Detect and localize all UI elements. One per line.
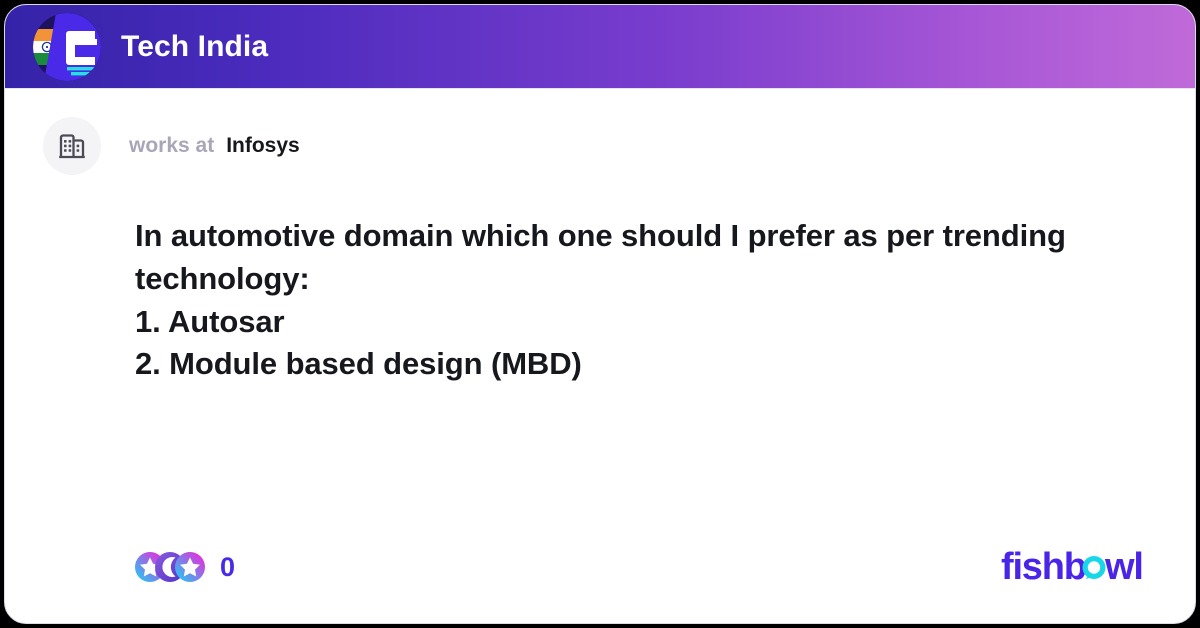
- reactions-group[interactable]: 0: [135, 552, 235, 582]
- author-row: works at Infosys: [43, 117, 1155, 175]
- post-card: Tech India: [4, 4, 1196, 624]
- post-footer: 0 fishb wl: [43, 541, 1155, 593]
- works-at-label: works at: [129, 134, 214, 158]
- tech-india-bowl-avatar[interactable]: [33, 13, 101, 81]
- bowl-title: Tech India: [121, 30, 268, 64]
- svg-text:fishb: fishb: [1001, 546, 1086, 588]
- bowl-header: Tech India: [5, 5, 1195, 89]
- post-body-region: works at Infosys In automotive domain wh…: [5, 89, 1195, 623]
- office-building-icon: [43, 117, 101, 175]
- fishbowl-logo: fishb wl: [1001, 545, 1155, 589]
- reaction-count: 0: [220, 554, 235, 581]
- author-meta: works at Infosys: [129, 134, 300, 158]
- post-text: In automotive domain which one should I …: [135, 215, 1115, 386]
- reaction-icon-stack[interactable]: [135, 552, 195, 582]
- star-reaction-icon[interactable]: [175, 552, 205, 582]
- company-name[interactable]: Infosys: [226, 134, 300, 158]
- svg-text:wl: wl: [1104, 546, 1143, 588]
